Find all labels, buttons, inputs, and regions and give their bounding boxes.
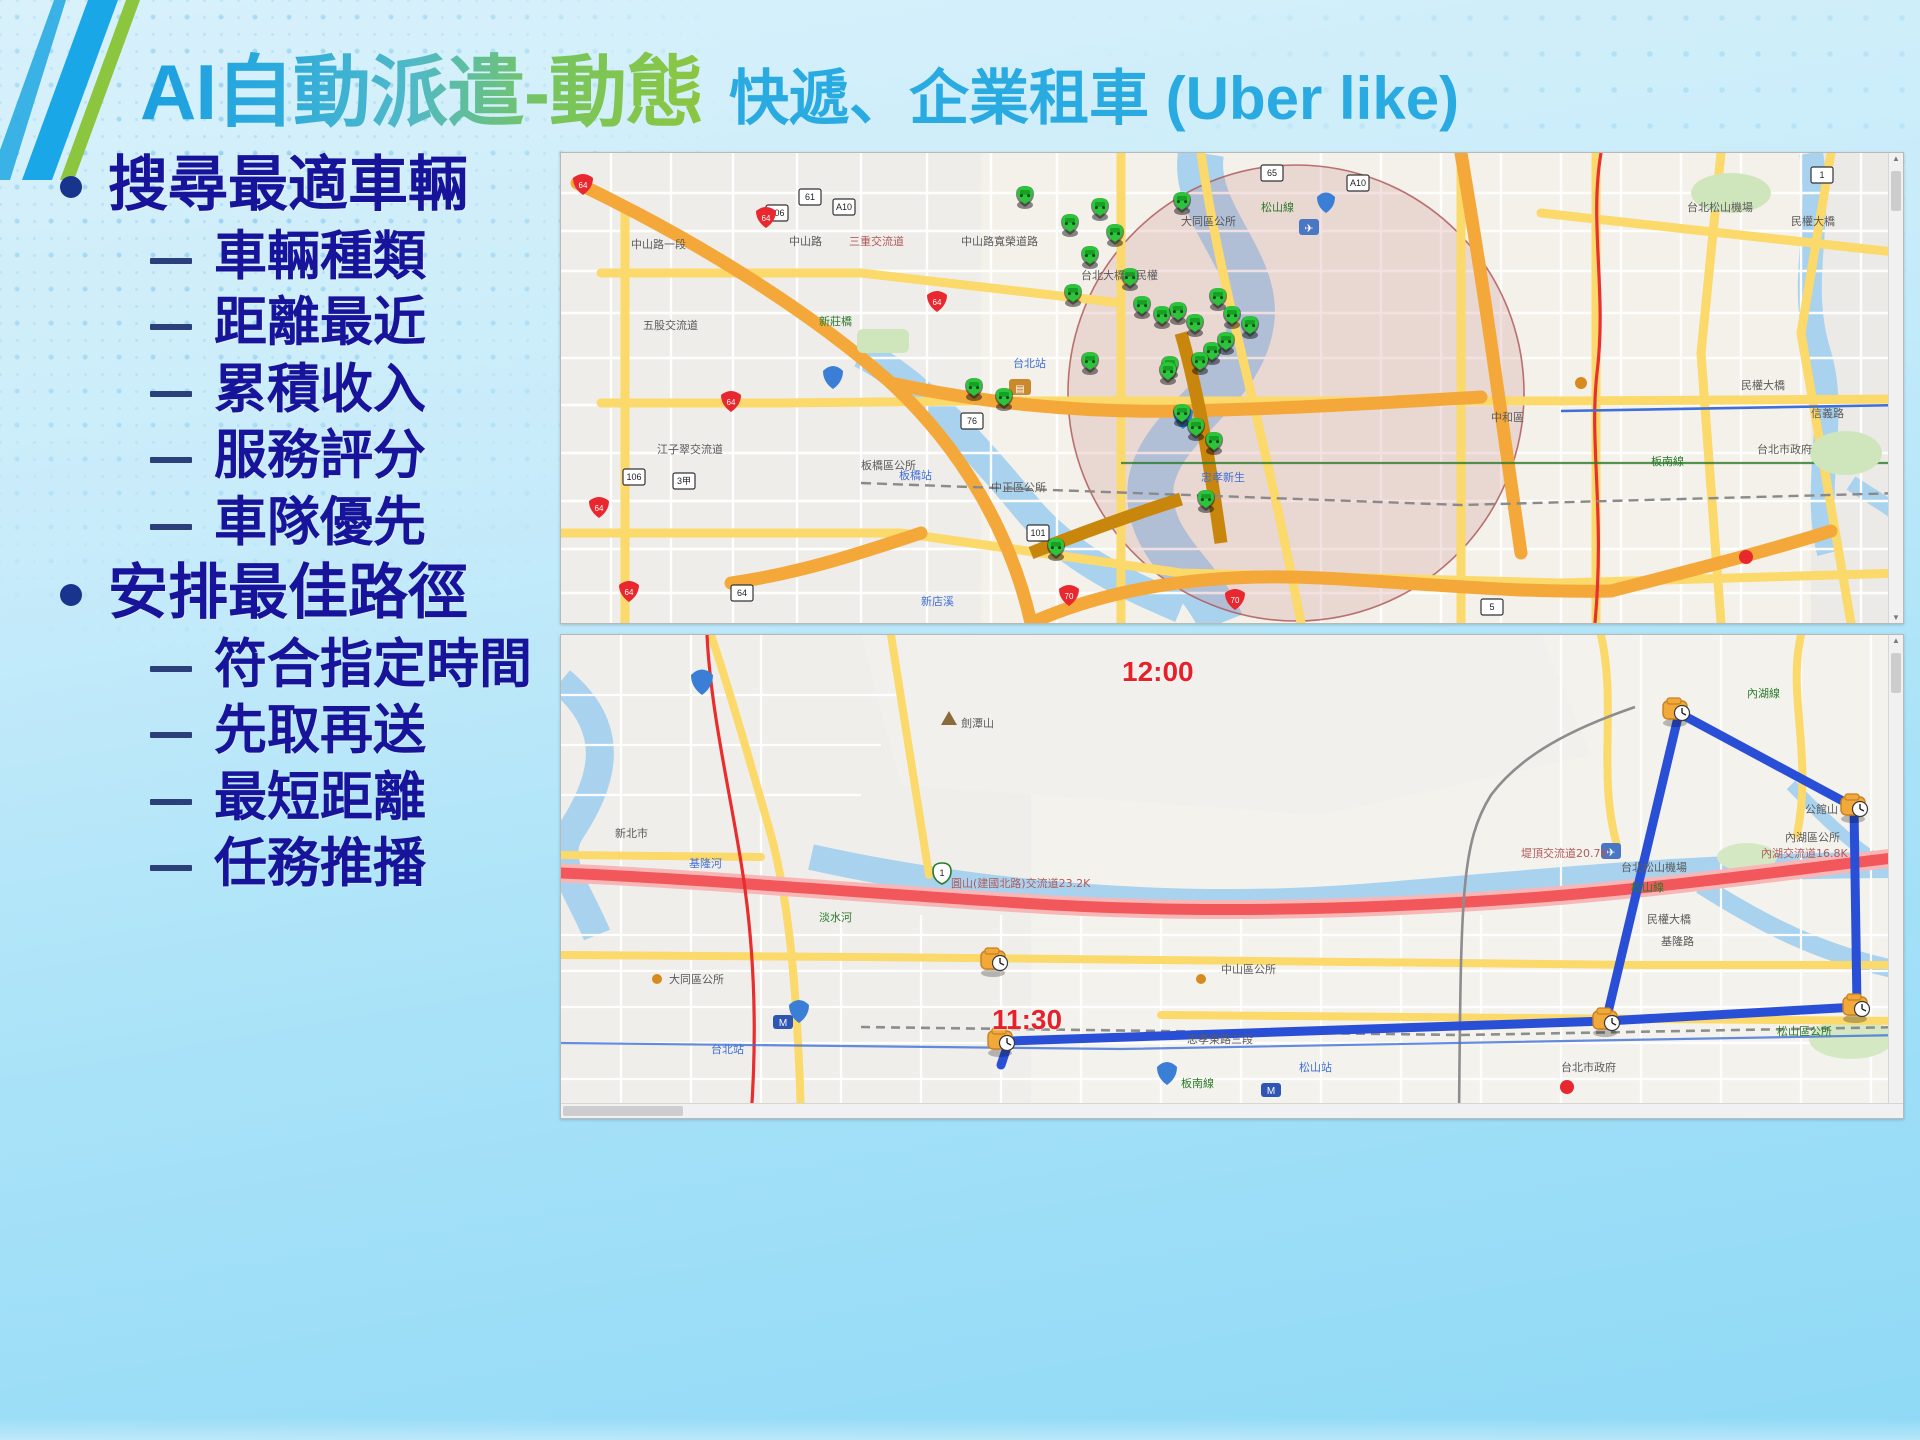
map-canvas-bottom: M M ✈ 1 劍潭山 基隆河 圓山(建國北路)交流道23.2K 堤頂交流道20… [561, 635, 1903, 1118]
dash-bullet-icon [150, 457, 192, 463]
svg-text:101: 101 [1030, 528, 1045, 538]
svg-text:✈: ✈ [1304, 223, 1313, 235]
svg-text:台北大橋－民權: 台北大橋－民權 [1081, 268, 1158, 282]
bullet-item-level2: 車輛種類 [38, 226, 558, 289]
bullet-sublabel: 車隊優先 [214, 492, 426, 555]
svg-text:內湖區公所: 內湖區公所 [1785, 831, 1840, 844]
svg-text:信義路: 信義路 [1811, 406, 1844, 420]
svg-text:公館山: 公館山 [1805, 802, 1838, 816]
bullet-sublabel: 最短距離 [214, 767, 426, 830]
svg-text:64: 64 [762, 214, 771, 223]
bullet-item-level2: 車隊優先 [38, 492, 558, 555]
page-subtitle: 快遞、企業租車 (Uber like) [729, 50, 1459, 137]
scrollbar-thumb[interactable] [1891, 171, 1901, 211]
svg-text:忠孝新生: 忠孝新生 [1201, 470, 1245, 484]
svg-text:松山線: 松山線 [1261, 200, 1294, 214]
svg-text:65: 65 [1267, 168, 1277, 178]
svg-text:新店溪: 新店溪 [921, 594, 954, 608]
bullet-dot-icon [60, 584, 82, 606]
waypoint-marker-dropoff [1663, 698, 1690, 727]
dash-bullet-icon [150, 865, 192, 871]
svg-text:64: 64 [579, 181, 588, 190]
svg-text:70: 70 [1231, 596, 1240, 605]
svg-text:台北站: 台北站 [711, 1042, 744, 1056]
slide-title: AI自動派遣-動態快遞、企業租車 (Uber like) [140, 30, 1459, 142]
map-vertical-scrollbar[interactable]: ▲ ▼ [1888, 153, 1903, 623]
svg-text:板橋站: 板橋站 [899, 468, 932, 482]
scroll-up-icon[interactable]: ▲ [1892, 636, 1900, 645]
svg-text:台北站: 台北站 [1013, 356, 1046, 370]
svg-text:106: 106 [626, 472, 641, 482]
svg-text:61: 61 [805, 192, 815, 202]
bullet-item-level2: 累積收入 [38, 359, 558, 422]
svg-text:板南線: 板南線 [1181, 1076, 1214, 1090]
svg-text:忠孝東路三段: 忠孝東路三段 [1187, 1032, 1253, 1046]
dash-bullet-icon [150, 258, 192, 264]
map-vertical-scrollbar[interactable]: ▲ ▼ [1888, 635, 1903, 1118]
svg-text:台北松山機場: 台北松山機場 [1687, 200, 1753, 214]
svg-text:松山線: 松山線 [1631, 880, 1664, 894]
bullet-sublabel: 符合指定時間 [214, 634, 532, 697]
waypoint-marker-pickup [1593, 1008, 1620, 1037]
bullet-item-level2: 距離最近 [38, 292, 558, 355]
svg-text:中山路一段: 中山路一段 [631, 237, 686, 251]
svg-text:台北市政府: 台北市政府 [1561, 1060, 1616, 1074]
waypoint-marker [1843, 994, 1870, 1023]
waypoint-marker [1841, 794, 1868, 823]
waypoint-marker [981, 948, 1008, 977]
svg-text:內湖交流道16.8K: 內湖交流道16.8K [1761, 846, 1848, 860]
bullet-item-level2: 先取再送 [38, 700, 558, 763]
bullet-item-level2: 符合指定時間 [38, 634, 558, 697]
svg-text:新北市: 新北市 [615, 826, 648, 840]
dash-bullet-icon [150, 799, 192, 805]
svg-text:大同區公所: 大同區公所 [1181, 214, 1236, 228]
map-horizontal-scrollbar[interactable] [561, 1103, 1903, 1118]
dash-bullet-icon [150, 732, 192, 738]
svg-text:松山區公所: 松山區公所 [1777, 1024, 1832, 1038]
map-canvas-top: 106 61 A10 106 3甲 64 76 101 65 A10 1 5 6… [561, 153, 1903, 623]
bullet-sublabel: 先取再送 [214, 700, 426, 763]
svg-text:5: 5 [1489, 602, 1494, 612]
svg-text:淡水河: 淡水河 [819, 911, 852, 924]
bullet-label: 安排最佳路徑 [108, 558, 468, 628]
svg-text:64: 64 [727, 398, 736, 407]
svg-text:台北松山機場: 台北松山機場 [1621, 860, 1687, 874]
scrollbar-thumb[interactable] [1891, 653, 1901, 693]
vehicle-search-map[interactable]: 106 61 A10 106 3甲 64 76 101 65 A10 1 5 6… [560, 152, 1904, 624]
bullet-sublabel: 累積收入 [214, 359, 426, 422]
svg-text:江子翠交流道: 江子翠交流道 [657, 442, 723, 456]
bullet-sublabel: 車輛種類 [214, 226, 426, 289]
svg-text:64: 64 [625, 588, 634, 597]
optimal-route-map[interactable]: M M ✈ 1 劍潭山 基隆河 圓山(建國北路)交流道23.2K 堤頂交流道20… [560, 634, 1904, 1119]
svg-text:劍潭山: 劍潭山 [961, 716, 994, 730]
waypoint-time-label-pickup: 11:30 [992, 1004, 1062, 1036]
scroll-up-icon[interactable]: ▲ [1892, 154, 1900, 163]
svg-text:五股交流道: 五股交流道 [643, 318, 698, 332]
svg-text:基隆路: 基隆路 [1661, 934, 1694, 948]
svg-text:A10: A10 [1350, 178, 1366, 188]
bullet-label: 搜尋最適車輛 [108, 150, 468, 220]
svg-text:中和區: 中和區 [1491, 411, 1524, 424]
svg-text:M: M [1267, 1086, 1275, 1097]
footer-strip [0, 1418, 1920, 1440]
dash-bullet-icon [150, 524, 192, 530]
dash-bullet-icon [150, 324, 192, 330]
svg-text:64: 64 [595, 504, 604, 513]
svg-text:76: 76 [967, 416, 977, 426]
bullet-item-level1: 安排最佳路徑 [38, 558, 558, 628]
svg-text:▤: ▤ [1015, 384, 1024, 395]
bullet-item-level2: 任務推播 [38, 833, 558, 896]
bullet-item-level2: 最短距離 [38, 767, 558, 830]
svg-text:1: 1 [939, 868, 944, 878]
bullet-sublabel: 任務推播 [214, 833, 426, 896]
svg-text:70: 70 [1065, 592, 1074, 601]
bullet-item-level2: 服務評分 [38, 425, 558, 488]
svg-text:中山路寬榮道路: 中山路寬榮道路 [961, 234, 1038, 248]
svg-text:圓山(建國北路)交流道23.2K: 圓山(建國北路)交流道23.2K [951, 876, 1091, 890]
svg-text:中正區公所: 中正區公所 [991, 481, 1046, 494]
svg-text:基隆河: 基隆河 [689, 856, 722, 870]
svg-text:中山路: 中山路 [789, 235, 822, 248]
svg-text:✈: ✈ [1606, 847, 1615, 859]
svg-text:民權大橋: 民權大橋 [1791, 214, 1835, 228]
svg-text:新莊橋: 新莊橋 [819, 314, 852, 328]
svg-text:內湖線: 內湖線 [1747, 686, 1780, 700]
scrollbar-thumb[interactable] [563, 1106, 683, 1116]
svg-text:1: 1 [1819, 170, 1824, 180]
svg-text:3甲: 3甲 [677, 476, 691, 486]
bullet-sublabel: 服務評分 [214, 425, 426, 488]
svg-text:堤頂交流道20.7K: 堤頂交流道20.7K [1521, 846, 1608, 860]
dash-bullet-icon [150, 666, 192, 672]
svg-text:台北市政府: 台北市政府 [1757, 442, 1812, 456]
svg-text:民權大橋: 民權大橋 [1741, 378, 1785, 392]
svg-text:中山區公所: 中山區公所 [1221, 963, 1276, 976]
svg-text:板南線: 板南線 [1651, 454, 1684, 468]
bullet-dot-icon [60, 176, 82, 198]
svg-text:三重交流道: 三重交流道 [849, 234, 904, 248]
dash-bullet-icon [150, 391, 192, 397]
svg-text:民權大橋: 民權大橋 [1647, 912, 1691, 926]
scroll-down-icon[interactable]: ▼ [1892, 613, 1900, 622]
page-title: AI自動派遣-動態 [140, 30, 703, 142]
svg-text:64: 64 [737, 588, 747, 598]
svg-text:大同區公所: 大同區公所 [669, 972, 724, 986]
svg-text:松山站: 松山站 [1299, 1060, 1332, 1074]
bullet-item-level1: 搜尋最適車輛 [38, 150, 558, 220]
svg-text:A10: A10 [836, 202, 852, 212]
bullet-sublabel: 距離最近 [214, 292, 426, 355]
svg-text:64: 64 [933, 298, 942, 307]
svg-text:M: M [779, 1018, 787, 1029]
bullet-list: 搜尋最適車輛 車輛種類 距離最近 累積收入 服務評分 車隊優先 安排最佳路徑 符… [38, 150, 558, 900]
waypoint-time-label-dropoff: 12:00 [1122, 656, 1194, 688]
